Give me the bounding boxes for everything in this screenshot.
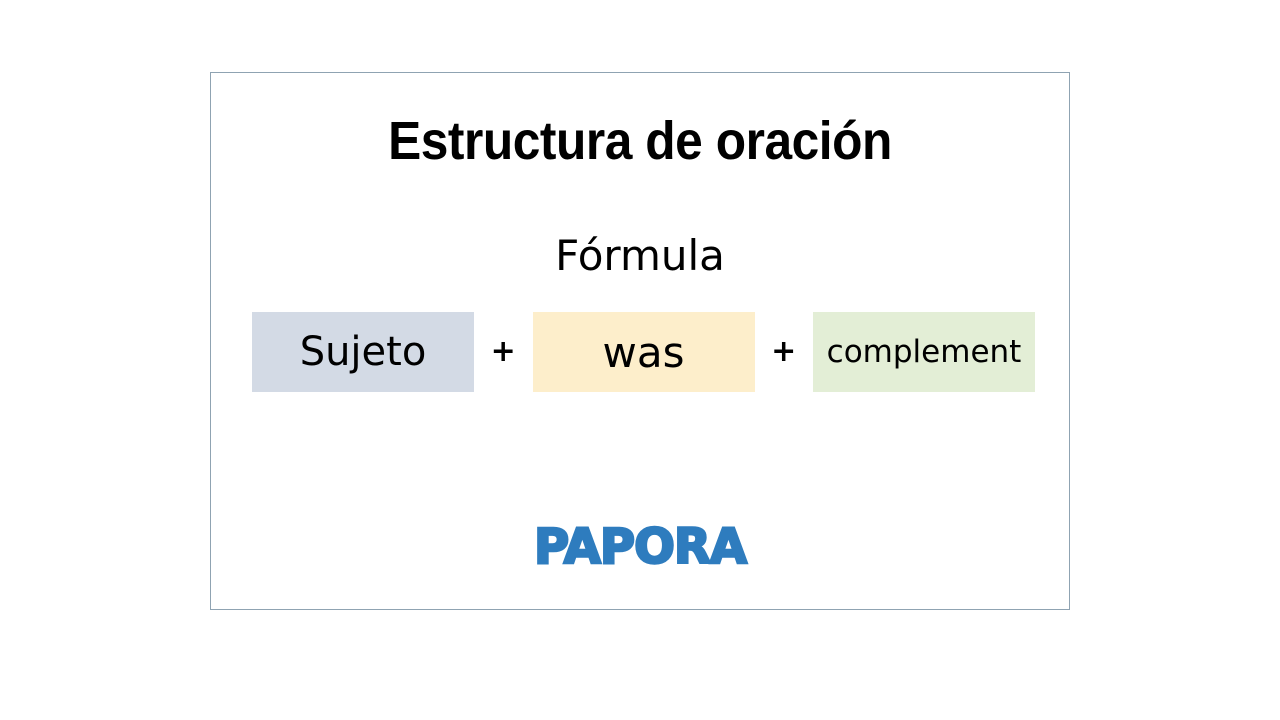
papora-logo: PAPORA [211,521,1069,573]
formula-box-complement: complement [813,312,1035,392]
slide-subtitle: Fórmula [211,232,1069,280]
formula-box-subject: Sujeto [252,312,474,392]
formula-row: Sujeto + was + complement [252,312,1035,392]
formula-operator-1: + [484,337,522,367]
slide-frame: Estructura de oración Fórmula Sujeto + w… [210,72,1070,610]
formula-box-subject-label: Sujeto [300,329,427,375]
formula-box-verb: was [533,312,755,392]
formula-box-complement-label: complement [827,334,1022,370]
formula-operator-2: + [765,337,803,367]
page-title: Estructura de oración [245,111,1034,171]
formula-box-verb-label: was [603,328,685,377]
